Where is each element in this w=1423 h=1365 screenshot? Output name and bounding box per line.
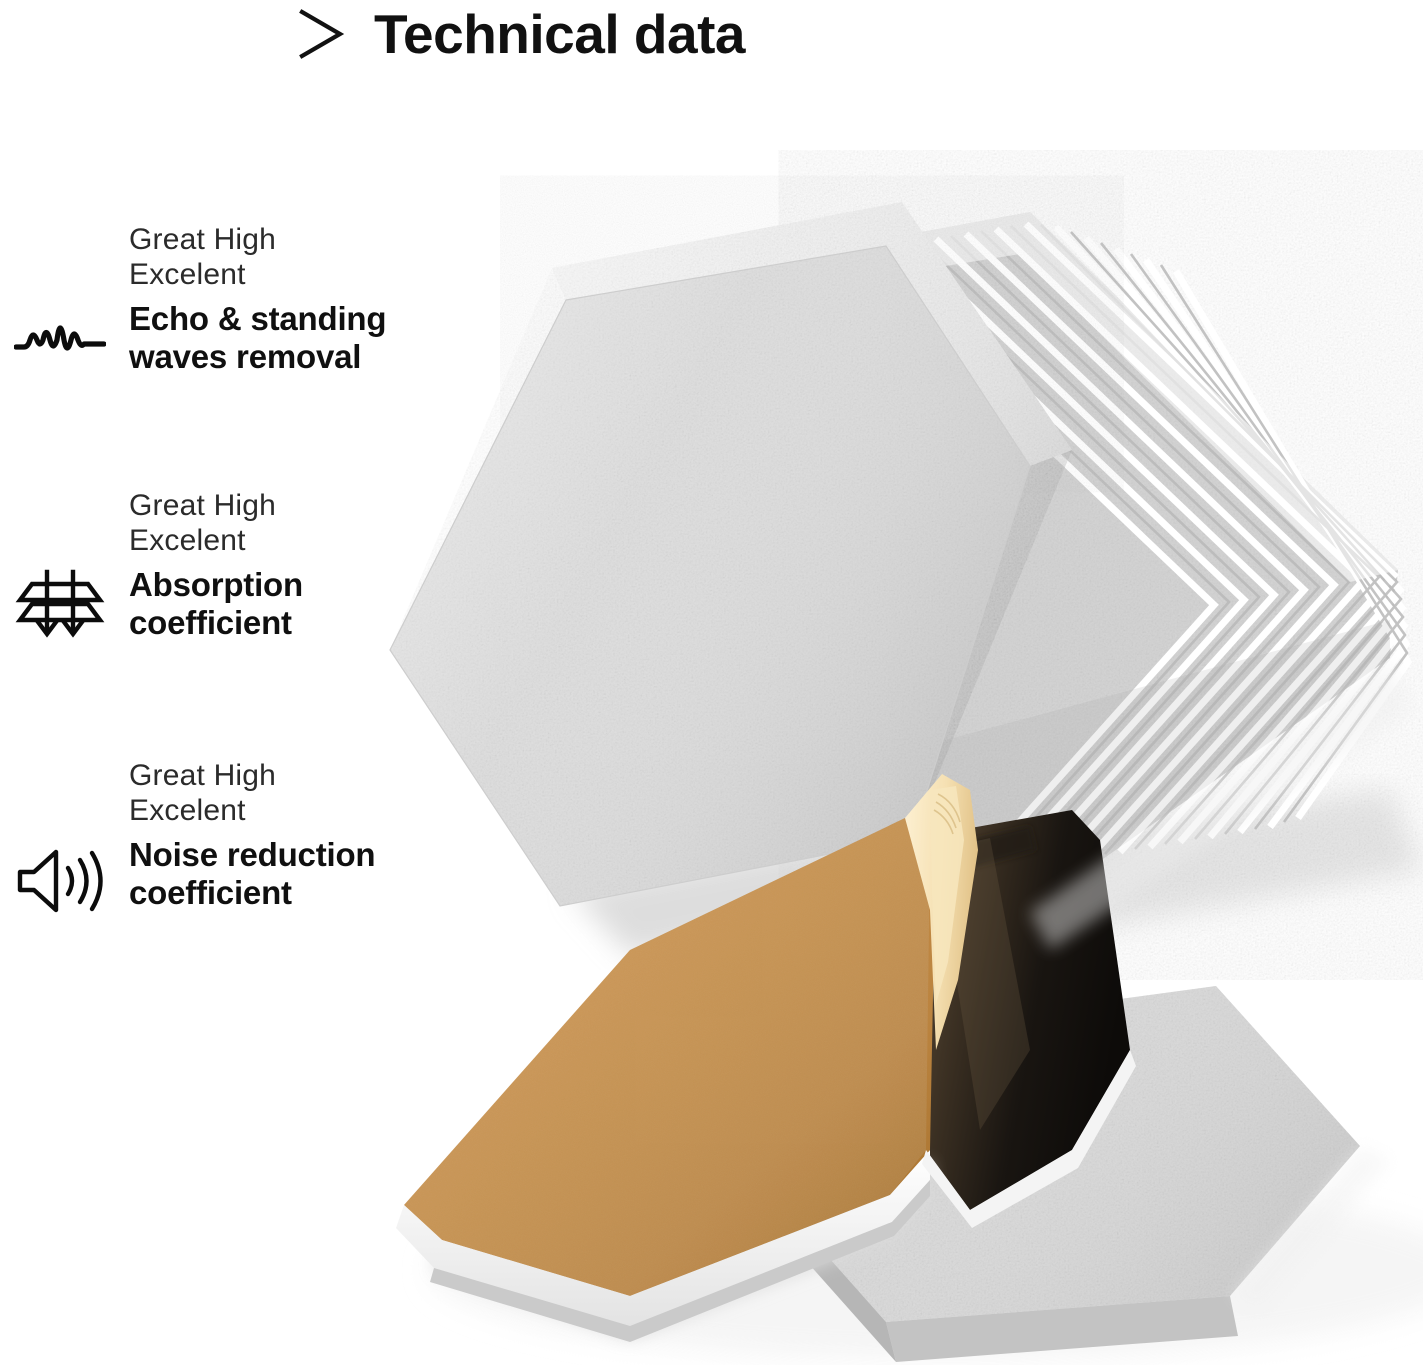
product-feature-page: Technical data (0, 0, 1423, 1365)
sound-wave-icon (14, 312, 106, 375)
feature-subtitle: Great High Excelent (129, 222, 529, 293)
absorption-layers-icon (14, 566, 106, 649)
feature-title: Echo & standing waves removal (129, 300, 529, 377)
feature-title: Absorption coefficient (129, 566, 529, 643)
feature-title: Noise reduction coefficient (129, 836, 529, 913)
speaker-waves-icon (14, 846, 106, 921)
page-title: Technical data (374, 7, 745, 62)
chevron-right-icon (296, 6, 348, 62)
feature-subtitle: Great High Excelent (129, 758, 529, 829)
feature-subtitle: Great High Excelent (129, 488, 529, 559)
page-header: Technical data (296, 6, 745, 62)
